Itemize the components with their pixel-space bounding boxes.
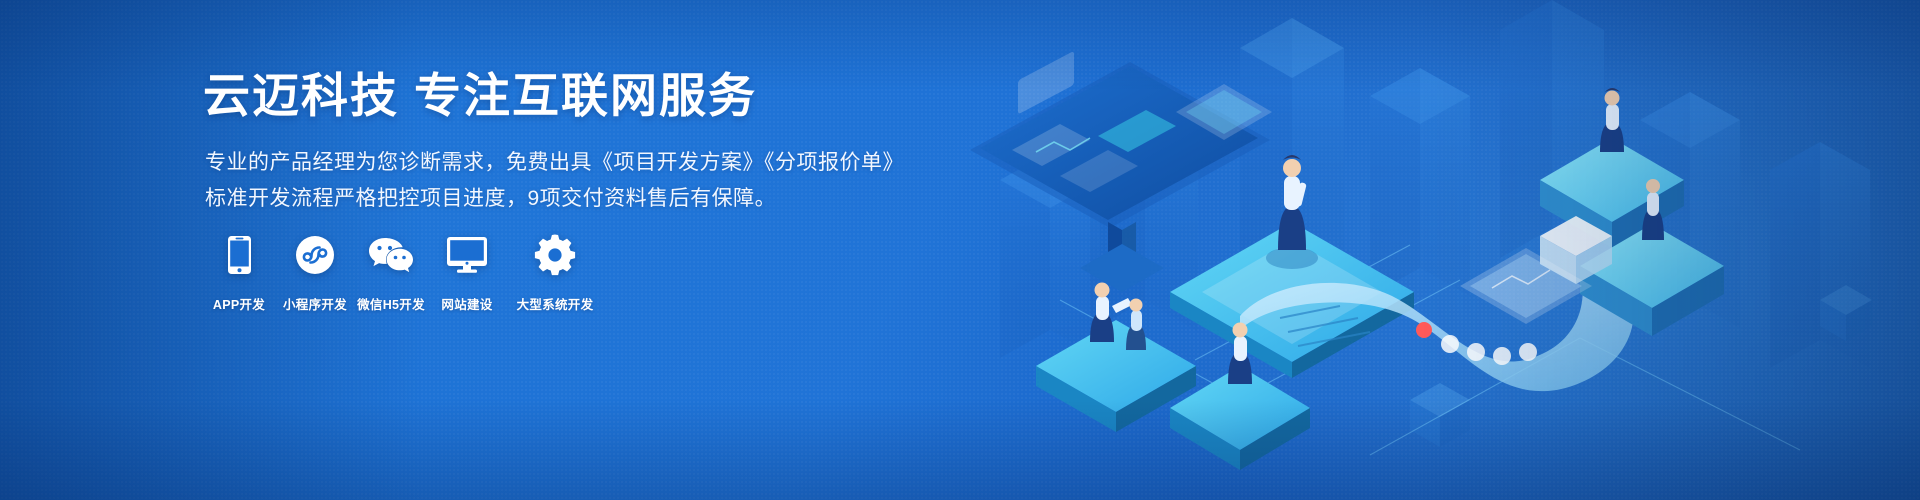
- mobile-phone-icon: [227, 232, 252, 278]
- hero-banner: 云迈科技 专注互联网服务 专业的产品经理为您诊断需求，免费出具《项目开发方案》《…: [0, 0, 1920, 500]
- isometric-illustration: [940, 0, 1920, 500]
- subtitle-line-1: 专业的产品经理为您诊断需求，免费出具《项目开发方案》《分项报价单》: [205, 145, 904, 181]
- mini-program-icon: [295, 232, 335, 278]
- banner-copy: 云迈科技 专注互联网服务 专业的产品经理为您诊断需求，免费出具《项目开发方案》《…: [203, 0, 963, 500]
- banner-subtitle: 专业的产品经理为您诊断需求，免费出具《项目开发方案》《分项报价单》 标准开发流程…: [205, 145, 904, 217]
- service-item-miniprogram[interactable]: 小程序开发: [279, 232, 351, 313]
- service-label-website: 网站建设: [441, 294, 492, 313]
- service-item-app[interactable]: APP开发: [203, 232, 275, 313]
- page-title: 云迈科技 专注互联网服务: [203, 72, 757, 119]
- gear-icon: [534, 232, 576, 278]
- service-item-wechat-h5[interactable]: 微信H5开发: [355, 232, 427, 313]
- service-list: APP开发 小程序开发: [203, 232, 607, 313]
- service-item-website[interactable]: 网站建设: [431, 232, 503, 313]
- service-item-large-system[interactable]: 大型系统开发: [507, 232, 603, 313]
- service-label-large-system: 大型系统开发: [517, 294, 594, 313]
- service-label-miniprogram: 小程序开发: [283, 294, 347, 313]
- service-label-wechat-h5: 微信H5开发: [357, 294, 425, 313]
- subtitle-line-2: 标准开发流程严格把控项目进度，9项交付资料售后有保障。: [205, 181, 904, 217]
- monitor-icon: [446, 232, 488, 278]
- wechat-icon: [368, 232, 414, 278]
- service-label-app: APP开发: [213, 294, 265, 313]
